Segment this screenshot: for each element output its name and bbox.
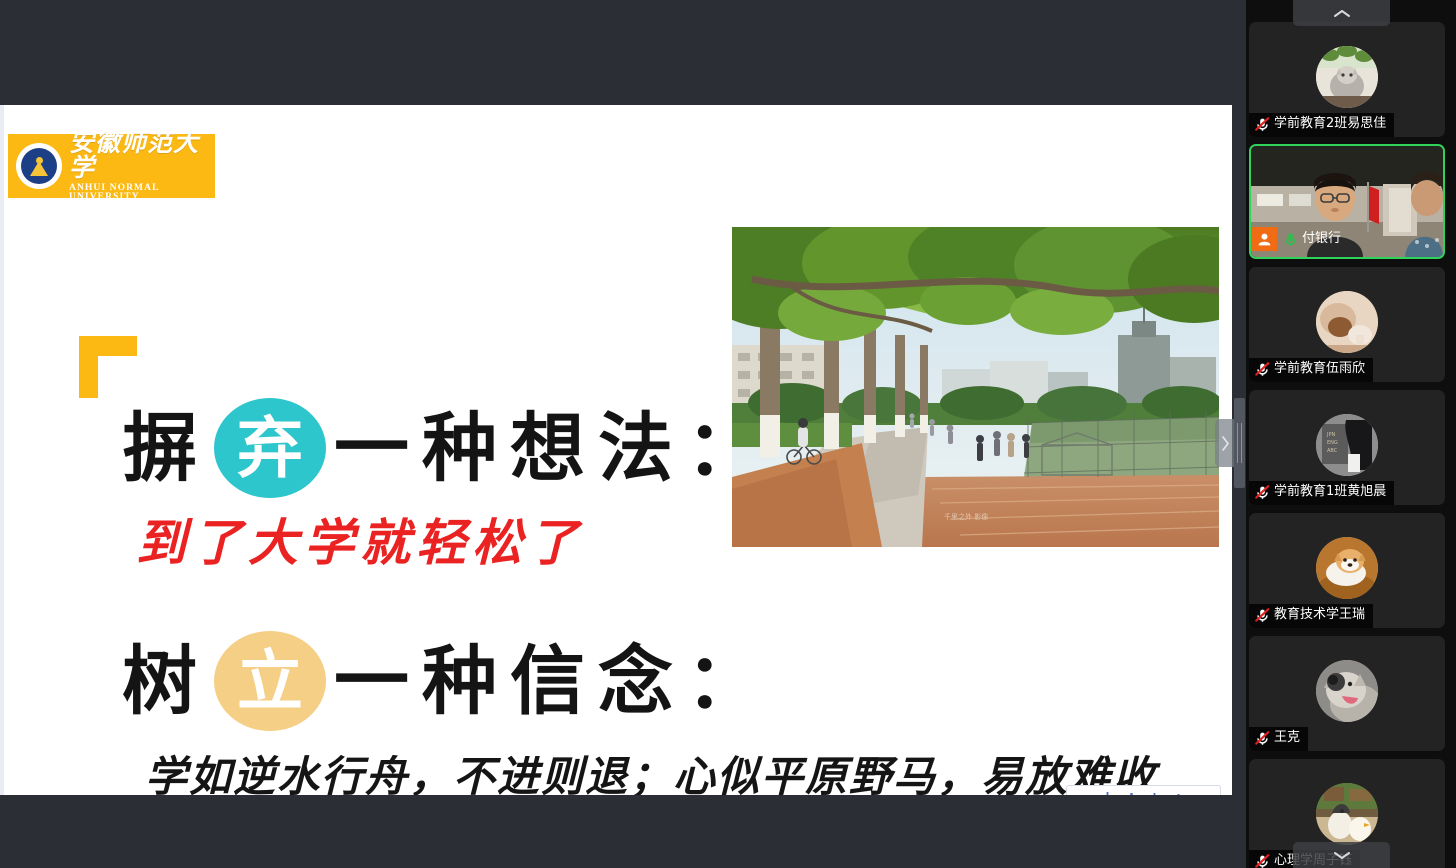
avatar [1316,783,1378,845]
host-person-icon [1251,227,1277,251]
participant-tile[interactable]: 教育技术学王瑞 [1249,513,1445,628]
avatar: JPNENGABC [1316,414,1378,476]
more-icon[interactable] [1197,791,1207,795]
mic-on-icon [1282,231,1299,248]
pointer-icon[interactable] [1080,791,1090,795]
drag-handle-icon [1241,423,1242,463]
headline-row-1: 摒 弃 一种想法： [122,387,774,509]
chevron-down-icon [1332,850,1352,861]
drag-handle-icon [1237,423,1238,463]
subline-1: 到了大学就轻松了 [136,518,584,568]
university-seal-icon [16,143,62,189]
participant-tile[interactable]: JPNENGABC 学前教育1班黄旭晨 [1249,390,1445,505]
mic-muted-icon [1254,116,1271,133]
participant-name: 学前教育伍雨欣 [1274,362,1365,376]
filmstrip-scroll-down-button[interactable] [1293,842,1390,868]
panel-drag-handle[interactable] [1234,398,1245,488]
participant-name: 王克 [1274,731,1300,745]
svg-text:ENG: ENG [1327,440,1338,446]
headline-1-suffix: 一种想法： [334,411,774,486]
campus-photo: 千里之外 影像 [732,227,1219,547]
meeting-window: 安徽师范大学 ANHUI NORMAL UNIVERSITY 摒 弃 一种想法：… [0,0,1456,868]
participant-label: 学前教育1班黄旭晨 [1249,481,1394,505]
chevron-up-icon [1332,8,1352,19]
participant-name: 学前教育1班黄旭晨 [1274,485,1386,499]
participant-label: 学前教育2班易思佳 [1249,113,1394,137]
headline-1-highlight-char: 弃 [237,415,303,481]
shared-screen-stage: 安徽师范大学 ANHUI NORMAL UNIVERSITY 摒 弃 一种想法：… [0,0,1232,868]
university-name-en: ANHUI NORMAL UNIVERSITY [69,184,215,203]
avatar [1316,291,1378,353]
participant-name: 付银行 [1302,232,1341,246]
university-name-cn: 安徽师范大学 [69,130,215,180]
slide-left-edge [0,105,4,795]
headline-1-prefix: 摒 [122,411,210,486]
headline-2-highlight-circle: 立 [214,631,326,731]
svg-text:千里之外 影像: 千里之外 影像 [944,512,988,521]
mic-muted-icon [1254,607,1271,624]
laser-icon[interactable] [1174,791,1184,795]
presentation-slide[interactable]: 安徽师范大学 ANHUI NORMAL UNIVERSITY 摒 弃 一种想法：… [0,105,1232,795]
svg-text:JPN: JPN [1326,432,1335,438]
mic-muted-icon [1254,730,1271,747]
participant-tile[interactable]: 学前教育伍雨欣 [1249,267,1445,382]
mic-muted-icon [1254,484,1271,501]
highlighter-icon[interactable] [1127,791,1137,795]
eraser-icon[interactable] [1150,791,1160,795]
participant-tile[interactable]: 学前教育2班易思佳 [1249,22,1445,137]
participant-name: 学前教育2班易思佳 [1274,117,1386,131]
headline-2-highlight-char: 立 [237,648,303,714]
headline-2-suffix: 一种信念： [334,644,774,719]
participant-name: 教育技术学王瑞 [1274,608,1365,622]
participant-tile[interactable]: 王克 [1249,636,1445,751]
participant-label: 王克 [1249,727,1308,751]
participant-filmstrip[interactable]: 学前教育2班易思佳 [1246,0,1456,868]
university-logo-banner: 安徽师范大学 ANHUI NORMAL UNIVERSITY [8,134,215,198]
headline-1-highlight-circle: 弃 [214,398,326,498]
annotation-toolbar[interactable] [1066,785,1221,795]
avatar [1316,660,1378,722]
chevron-right-icon [1221,436,1230,451]
svg-text:ABC: ABC [1327,448,1338,454]
university-wordmark: 安徽师范大学 ANHUI NORMAL UNIVERSITY [69,130,215,203]
headline-2-prefix: 树 [122,644,210,719]
collapse-panel-button[interactable] [1215,419,1235,467]
participant-label: 学前教育伍雨欣 [1249,358,1373,382]
pen-icon[interactable] [1103,791,1113,795]
avatar [1316,46,1378,108]
headline-row-2: 树 立 一种信念： [122,620,774,742]
avatar [1316,537,1378,599]
subline-2: 学如逆水行舟，不进则退；心似平原野马，易放难收 [145,756,1157,795]
participant-label: 付银行 [1251,224,1349,255]
mic-muted-icon [1254,361,1271,378]
mic-muted-icon [1254,853,1271,868]
participant-label: 教育技术学王瑞 [1249,604,1373,628]
participant-tile-active-speaker[interactable]: 付银行 [1249,144,1445,259]
filmstrip-scroll-up-button[interactable] [1293,0,1390,26]
